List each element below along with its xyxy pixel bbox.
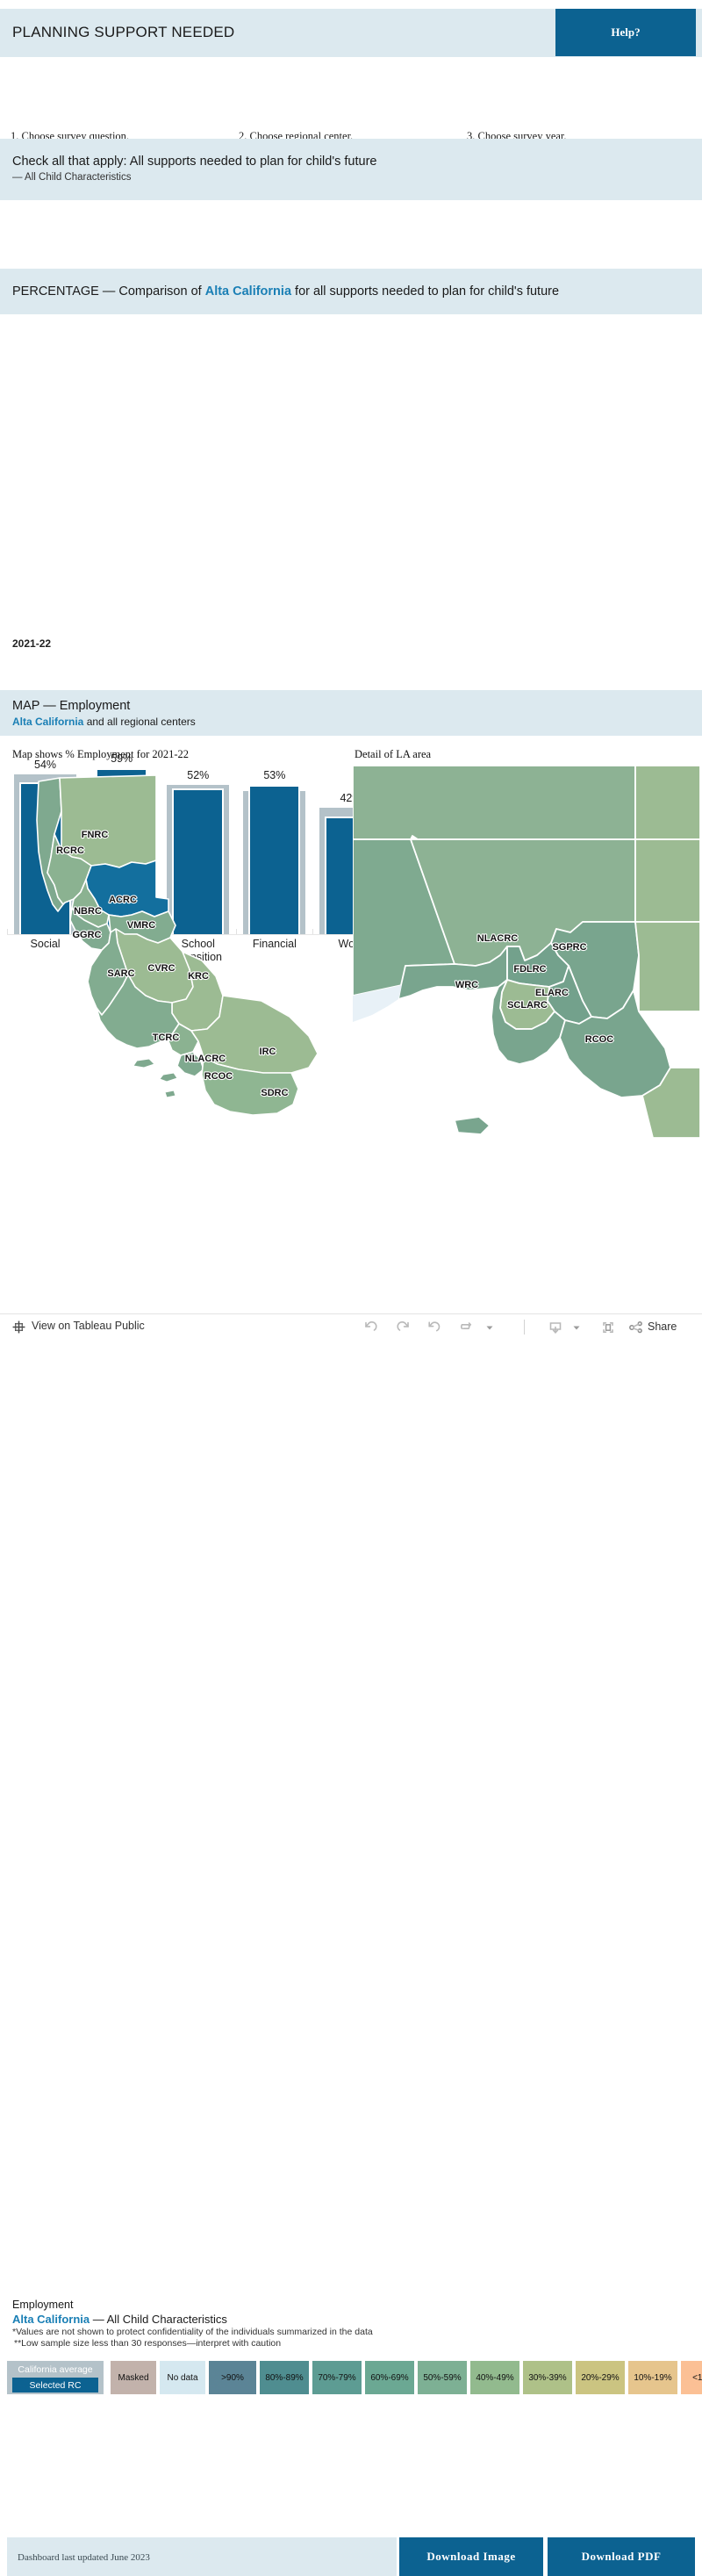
map-label-cvrc: CVRC: [147, 963, 175, 974]
map-label-nlacrc: NLACRC: [185, 1054, 226, 1064]
refresh-dropdown-icon[interactable]: [484, 1318, 496, 1337]
legend-swatch[interactable]: 60%-69%: [365, 2361, 414, 2394]
map-label-sclarc: SCLARC: [507, 1000, 548, 1011]
map-label-fnrc: FNRC: [82, 830, 109, 840]
map-label-elarc: ELARC: [535, 988, 569, 998]
view-options-group: See all supports needed to plan for chil…: [0, 202, 702, 256]
footnote-title: Employment: [12, 2299, 73, 2311]
refresh-icon[interactable]: [456, 1318, 476, 1337]
download-dropdown-icon[interactable]: [570, 1318, 583, 1337]
legend-swatch[interactable]: 40%-49%: [470, 2361, 519, 2394]
view-on-tableau-public-link[interactable]: View on Tableau Public: [32, 1320, 145, 1332]
map-banner-subtitle: Alta California and all regional centers: [12, 716, 196, 728]
chart-year-label: 2021-22: [12, 637, 51, 650]
map-banner-rest: and all regional centers: [83, 716, 195, 728]
fullscreen-icon[interactable]: [598, 1318, 618, 1337]
footnote-rc-line: Alta California — All Child Characterist…: [12, 2313, 227, 2326]
legend-swatch[interactable]: No data: [160, 2361, 205, 2394]
la-detail-map[interactable]: NLACRC SGPRC FDLRC WRC ELARC SCLARC RCOC: [353, 766, 700, 1138]
map-label-sarc: SARC: [107, 968, 134, 979]
legend-california-average: California average: [7, 2361, 104, 2378]
map-label-vmrc: VMRC: [127, 920, 155, 931]
legend-section: Employment Alta California — All Child C…: [0, 1141, 702, 1256]
map-label-rcoc: RCOC: [585, 1034, 613, 1045]
map-caption-right: Detail of LA area: [355, 748, 431, 761]
redo-icon[interactable]: [393, 1318, 412, 1337]
legend-swatch[interactable]: 30%-39%: [523, 2361, 572, 2394]
help-button[interactable]: Help?: [555, 9, 696, 56]
legend-swatch[interactable]: 10%-19%: [628, 2361, 677, 2394]
legend-swatch[interactable]: 50%-59%: [418, 2361, 467, 2394]
map-label-nbrc: NBRC: [74, 906, 102, 917]
map-label-wrc: WRC: [455, 980, 478, 990]
bar-chart-section: 2021-22 54%Social59%Recreation52%School …: [0, 314, 702, 683]
map-label-rcrc: RCRC: [56, 845, 84, 856]
percentage-banner-prefix: PERCENTAGE — Comparison of: [12, 284, 205, 299]
map-banner-title: MAP — Employment: [12, 699, 130, 713]
reset-icon[interactable]: [425, 1318, 444, 1337]
question-banner-title: Check all that apply: All supports neede…: [12, 155, 376, 169]
legend-swatch[interactable]: Masked: [111, 2361, 156, 2394]
map-banner: [0, 690, 702, 736]
map-label-nlacrc: NLACRC: [477, 933, 518, 944]
question-banner-subtitle: — All Child Characteristics: [12, 172, 131, 183]
legend-selected-rc: Selected RC: [12, 2378, 98, 2393]
page-title: PLANNING SUPPORT NEEDED: [12, 24, 234, 41]
map-caption-left: Map shows % Employment for 2021-22: [12, 748, 189, 761]
percentage-banner-suffix: for all supports needed to plan for chil…: [291, 284, 559, 299]
legend-comparison-key: California average Selected RC: [7, 2361, 104, 2394]
percentage-banner-rc: Alta California: [205, 284, 291, 299]
map-label-tcrc: TCRC: [153, 1033, 180, 1043]
map-label-krc: KRC: [188, 971, 209, 982]
map-label-rcoc: RCOC: [204, 1071, 233, 1082]
legend-swatch[interactable]: 20%-29%: [576, 2361, 625, 2394]
download-icon[interactable]: [546, 1318, 565, 1337]
download-image-button[interactable]: Download Image: [399, 2537, 543, 2576]
map-label-sdrc: SDRC: [261, 1088, 288, 1098]
legend-swatch[interactable]: 70%-79%: [312, 2361, 362, 2394]
map-banner-rc: Alta California: [12, 716, 83, 728]
tableau-logo-icon[interactable]: [12, 1320, 25, 1334]
footnote-low-sample: **Low sample size less than 30 responses…: [14, 2338, 281, 2349]
question-banner: [0, 139, 702, 200]
download-pdf-button[interactable]: Download PDF: [548, 2537, 695, 2576]
toolbar-divider: [524, 1320, 525, 1335]
last-updated-box: Dashboard last updated June 2023: [7, 2537, 397, 2576]
undo-icon[interactable]: [362, 1318, 381, 1337]
controls-bar: 1. Choose survey question. Planning Supp…: [0, 63, 702, 132]
footnote-rc: Alta California: [12, 2313, 90, 2326]
map-label-acrc: ACRC: [109, 895, 137, 905]
legend-swatch[interactable]: >90%: [209, 2361, 256, 2394]
map-label-irc: IRC: [260, 1047, 276, 1057]
footnote-confidentiality: *Values are not shown to protect confide…: [12, 2327, 373, 2337]
footer: Dashboard last updated June 2023 Downloa…: [0, 1264, 702, 1313]
map-label-ggrc: GGRC: [73, 930, 102, 940]
percentage-banner-text: PERCENTAGE — Comparison of Alta Californ…: [12, 284, 559, 299]
legend-swatch[interactable]: 80%-89%: [260, 2361, 309, 2394]
legend-swatch[interactable]: <10%: [681, 2361, 702, 2394]
map-label-fdlrc: FDLRC: [513, 964, 546, 975]
map-label-sgprc: SGPRC: [552, 942, 586, 953]
footnote-rc-rest: — All Child Characteristics: [90, 2313, 227, 2326]
last-updated-text: Dashboard last updated June 2023: [18, 2552, 150, 2563]
share-icon[interactable]: [627, 1318, 646, 1337]
share-label[interactable]: Share: [648, 1320, 677, 1333]
california-map[interactable]: FNRC RCRC ACRC NBRC GGRC VMRC SARC CVRC …: [0, 766, 347, 1138]
